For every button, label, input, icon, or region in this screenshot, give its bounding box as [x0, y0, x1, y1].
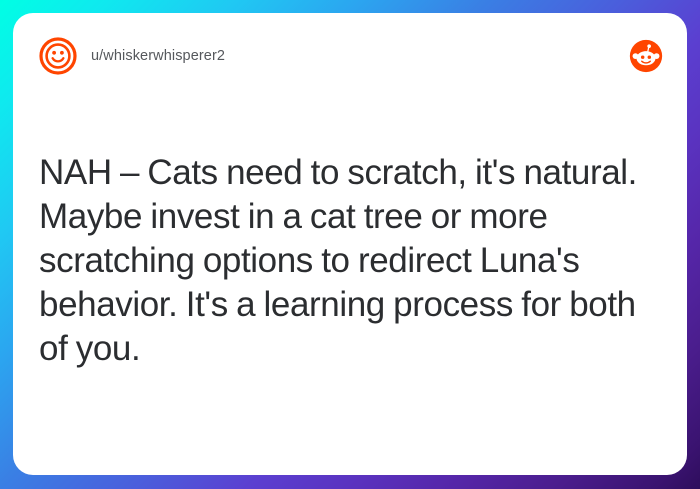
reddit-snoo-icon	[629, 39, 663, 73]
reddit-comment-card: u/whiskerwhisperer2	[13, 13, 687, 475]
card-header: u/whiskerwhisperer2	[13, 13, 687, 99]
card-body: NAH – Cats need to scratch, it's natural…	[39, 151, 657, 371]
author-username: u/whiskerwhisperer2	[91, 48, 225, 64]
comment-text: NAH – Cats need to scratch, it's natural…	[39, 151, 657, 371]
smiley-face-avatar-icon	[38, 36, 78, 76]
avatar[interactable]	[38, 36, 78, 76]
screenshot-stage: u/whiskerwhisperer2	[0, 0, 700, 489]
author-block[interactable]: u/whiskerwhisperer2	[38, 36, 225, 76]
reddit-logo[interactable]	[629, 39, 663, 73]
